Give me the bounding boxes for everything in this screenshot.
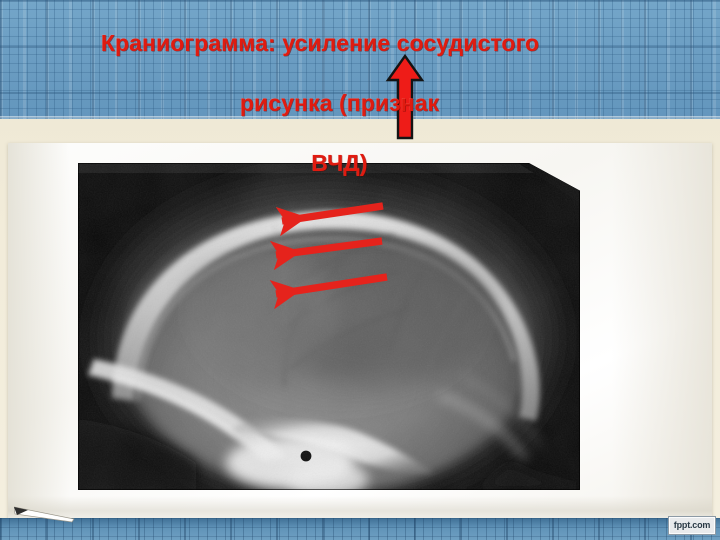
arrow-up-icon bbox=[385, 54, 425, 140]
paper-shading-left bbox=[8, 143, 70, 523]
vascular-marking-arrow-1 bbox=[282, 206, 383, 221]
slide-canvas: Краниограмма: усиление сосудистого рисун… bbox=[0, 0, 720, 540]
vascular-marking-arrow-2 bbox=[276, 241, 382, 255]
vascular-marking-annotations bbox=[78, 163, 580, 490]
slide-header-band bbox=[0, 0, 720, 119]
fppt-watermark-text: fppt.com bbox=[674, 521, 710, 530]
fppt-watermark[interactable]: fppt.com bbox=[668, 516, 716, 535]
page-curl-icon bbox=[14, 505, 76, 523]
paper-shading-right bbox=[612, 143, 712, 523]
slide-footer-band bbox=[0, 518, 720, 540]
vascular-marking-arrow-3 bbox=[276, 277, 387, 294]
